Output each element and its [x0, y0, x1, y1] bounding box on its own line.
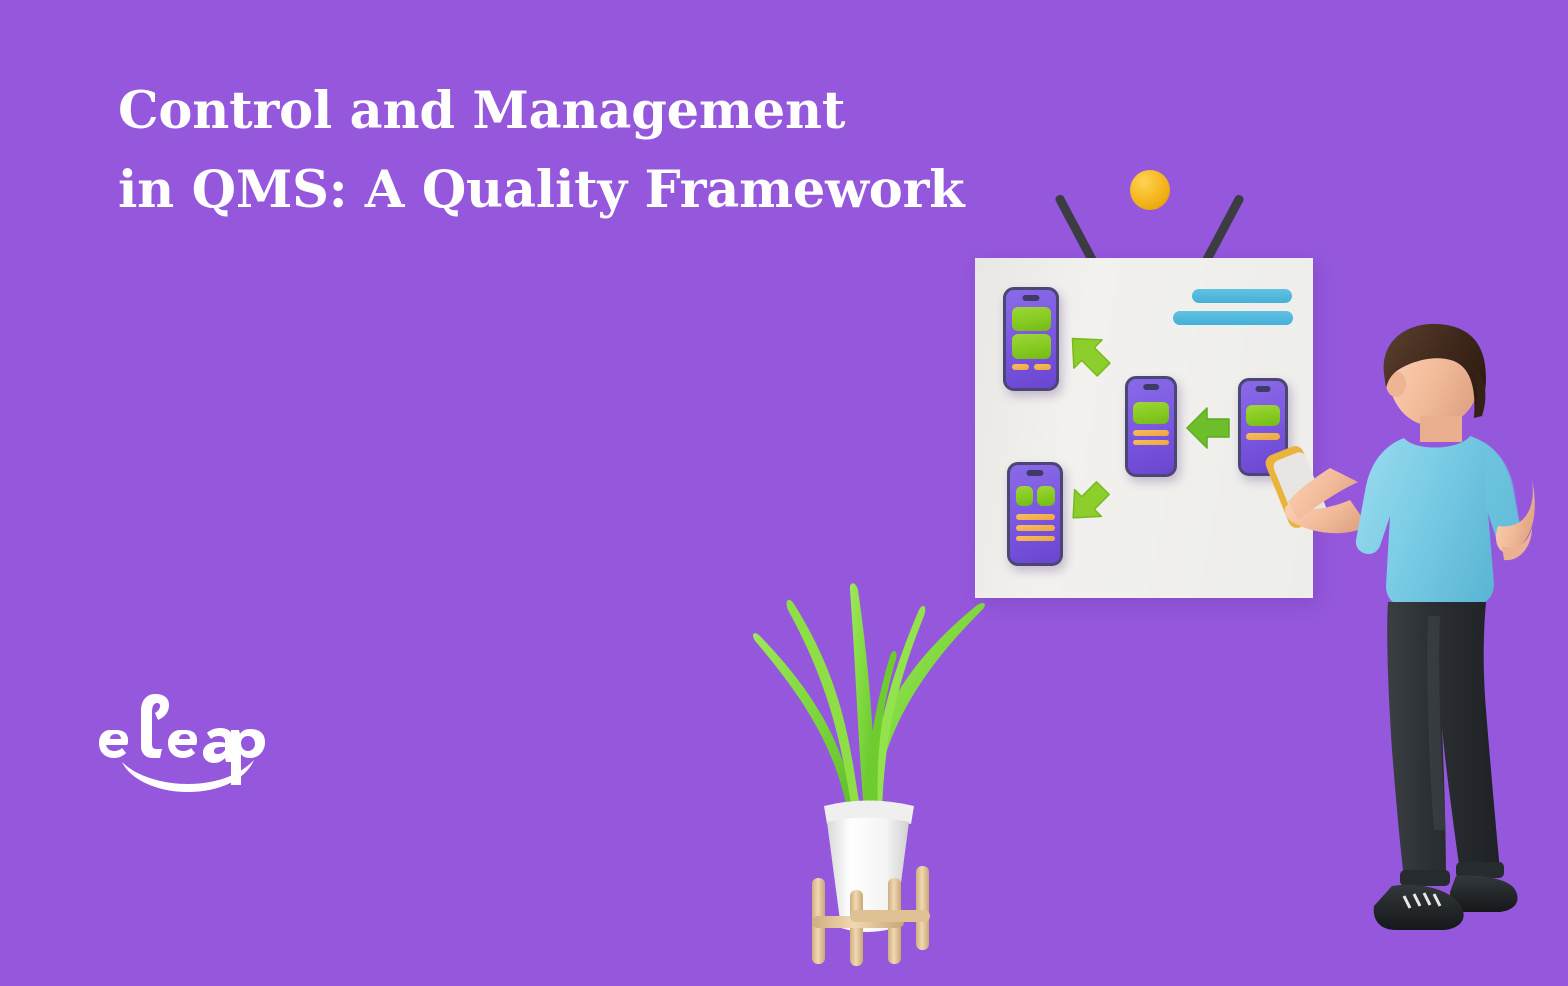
- person-shoe-back: [1450, 876, 1518, 913]
- phone-orange-bar: [1133, 440, 1169, 446]
- phone-green-block: [1246, 405, 1280, 426]
- held-phone-body: [1263, 443, 1329, 530]
- phone-notch: [1023, 295, 1040, 301]
- plant-leaf: [870, 606, 925, 812]
- phone-orange-bar: [1016, 514, 1055, 520]
- plant-leaf: [864, 603, 985, 804]
- phone-orange-bar: [1012, 364, 1029, 370]
- person-left-forearm: [1285, 500, 1368, 533]
- person-right-arm: [1496, 480, 1535, 553]
- person-pant-highlight: [1427, 616, 1446, 830]
- plant-stand-rail: [812, 916, 904, 928]
- person-sleeve-shade: [1484, 442, 1522, 552]
- phone-orange-bar: [1133, 430, 1169, 436]
- arrow-west-icon: [1185, 402, 1231, 454]
- person-pant-cuff: [1400, 870, 1450, 886]
- plant-leaf: [753, 633, 856, 812]
- person-ear: [1386, 371, 1406, 397]
- person-hair: [1384, 324, 1486, 418]
- standing-person-with-phone: [1288, 330, 1568, 960]
- eleap-logo[interactable]: [100, 678, 300, 788]
- phone-green-block: [1016, 486, 1034, 507]
- phone-green-block: [1012, 334, 1051, 359]
- person-head: [1388, 330, 1480, 426]
- phone-orange-bar: [1016, 525, 1055, 531]
- potted-plant: [738, 560, 998, 970]
- phone-orange-bar: [1034, 364, 1051, 370]
- plant-leaf: [866, 651, 896, 812]
- person-neck: [1420, 416, 1462, 442]
- phone-card-center: [1125, 376, 1177, 477]
- phone-green-block: [1133, 402, 1169, 424]
- plant-stand-leg: [916, 866, 929, 950]
- phone-green-block: [1037, 486, 1055, 507]
- plant-stand-leg: [888, 878, 901, 964]
- plant-stand-leg: [812, 878, 825, 964]
- person-pants: [1387, 602, 1500, 878]
- person-shoe-front: [1374, 885, 1464, 930]
- plant-stand-leg: [850, 890, 863, 966]
- hanger-knob: [1130, 170, 1170, 210]
- poster-canvas: Control and Management in QMS: A Quality…: [0, 0, 1568, 986]
- person-shirt: [1356, 436, 1522, 612]
- phone-orange-bar: [1246, 433, 1280, 439]
- plant-pot-rim: [824, 801, 914, 825]
- phone-card-top-left: [1003, 287, 1059, 391]
- arrow-northwest-icon: [1051, 317, 1125, 391]
- phone-card-right: [1238, 378, 1288, 476]
- phone-green-block: [1012, 307, 1051, 332]
- plant-leaf: [787, 600, 860, 810]
- phone-notch: [1027, 470, 1044, 476]
- phone-notch: [1256, 386, 1271, 392]
- eleap-logo-mark: [100, 678, 300, 788]
- phone-orange-bar: [1016, 536, 1055, 542]
- person-pant-cuff: [1456, 862, 1504, 878]
- plant-pot: [827, 818, 909, 933]
- plant-leaf: [850, 583, 876, 812]
- text-placeholder-bar-2: [1173, 311, 1293, 325]
- held-phone: [1263, 443, 1329, 530]
- person-left-arm: [1288, 468, 1358, 520]
- person-right-hand: [1502, 528, 1532, 560]
- plant-stand-rail: [850, 910, 930, 922]
- shoe-laces: [1404, 893, 1440, 908]
- page-title: Control and Management in QMS: A Quality…: [118, 72, 1098, 230]
- held-phone-screen: [1272, 450, 1329, 526]
- arrow-southwest-icon: [1053, 468, 1124, 539]
- text-placeholder-bar-1: [1192, 289, 1292, 303]
- hanger-cord-right: [1199, 193, 1245, 270]
- presentation-board: [975, 258, 1313, 598]
- phone-card-bottom-left: [1007, 462, 1063, 566]
- person-hair-shadow: [1464, 360, 1485, 418]
- phone-notch: [1143, 384, 1159, 390]
